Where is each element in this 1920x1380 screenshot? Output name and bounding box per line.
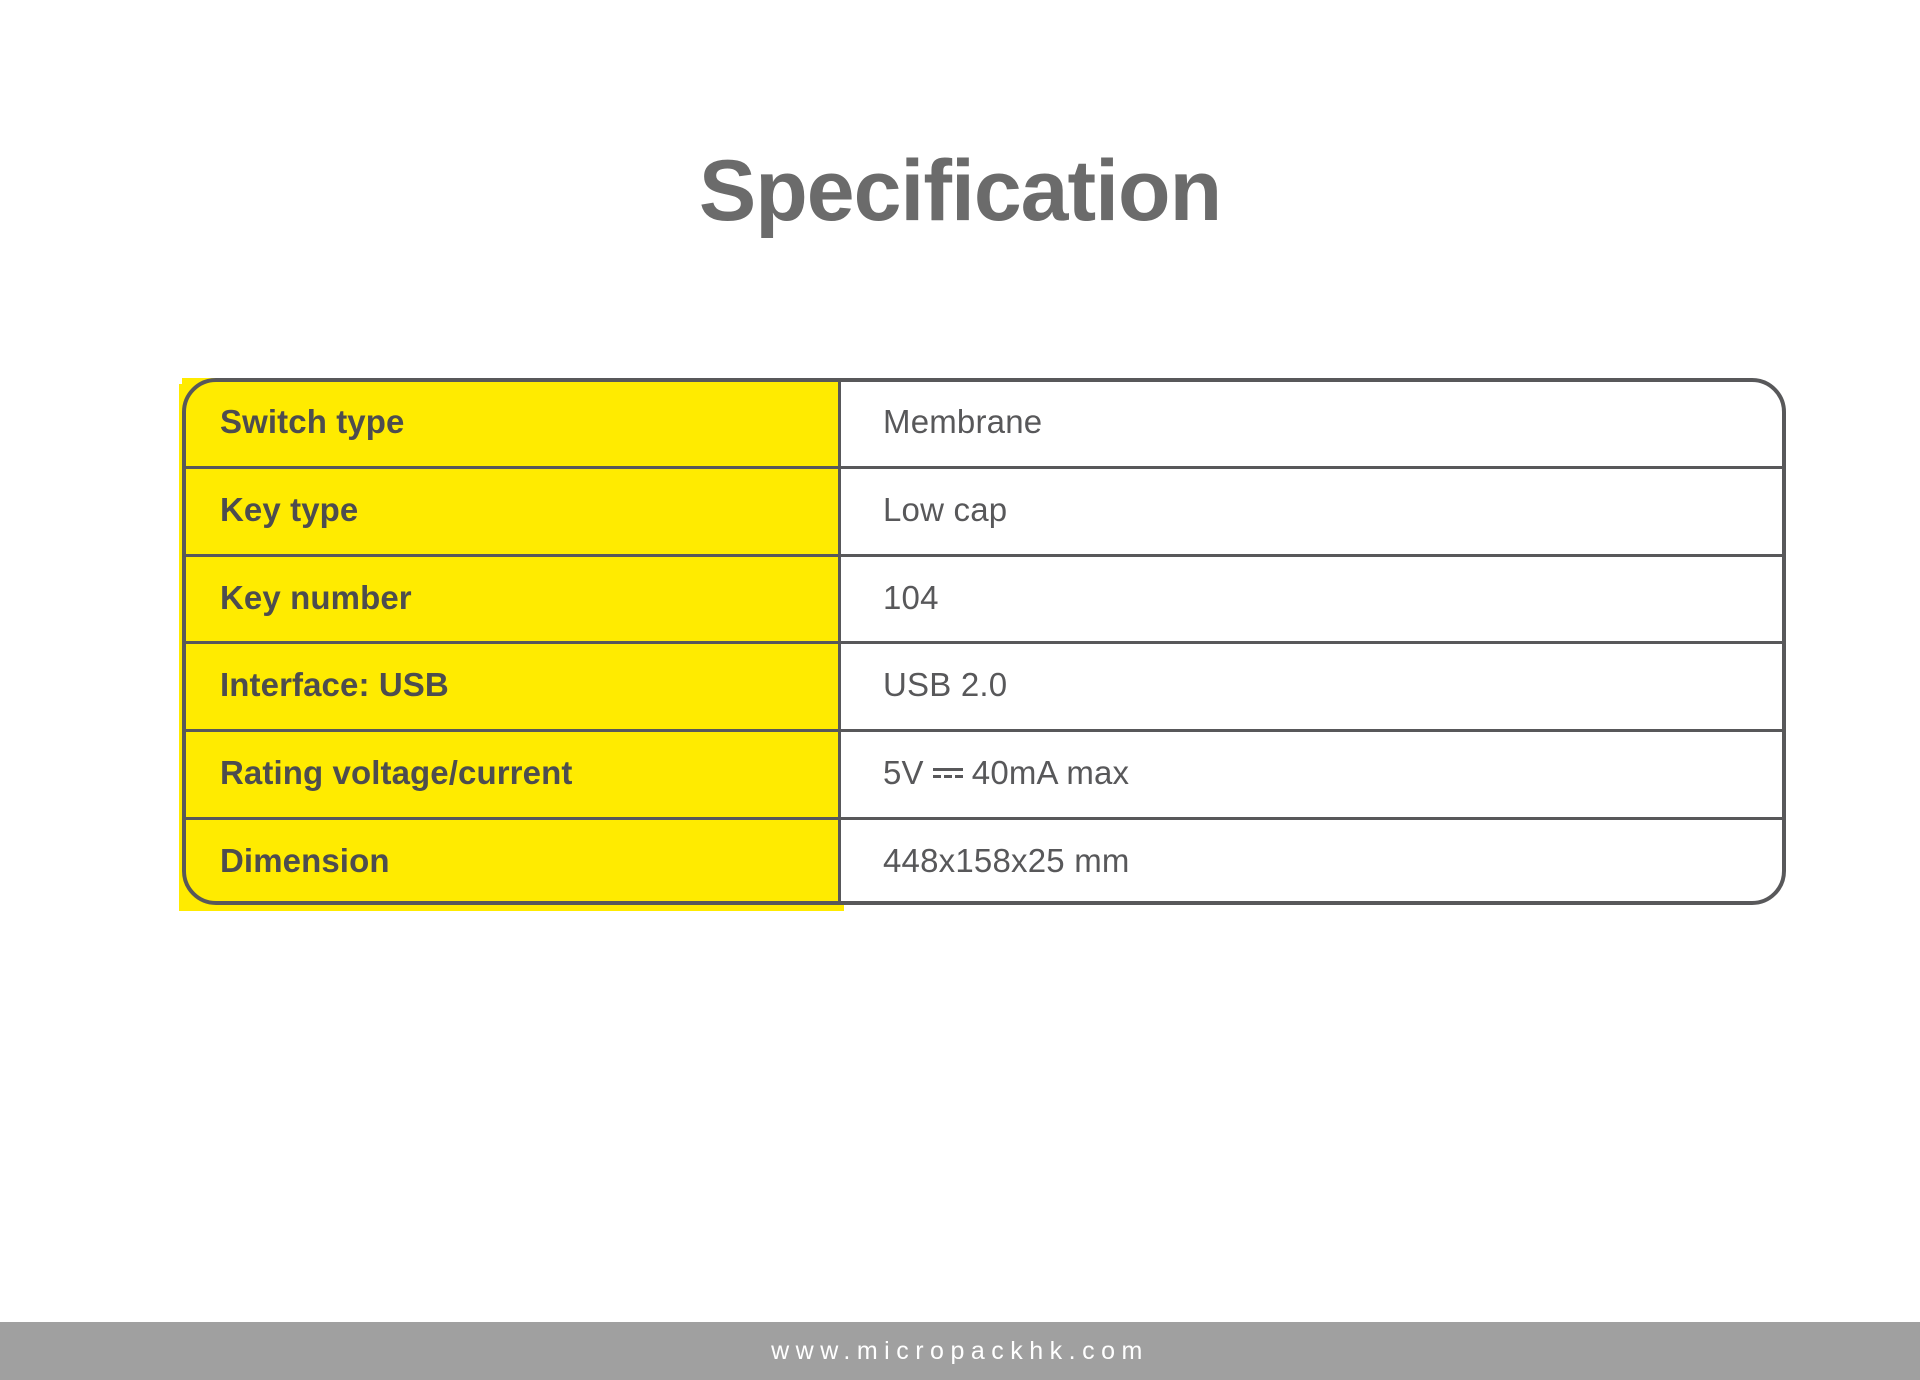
spec-value-text: Membrane [883, 403, 1042, 441]
specification-rows: Switch type Membrane Key type Low cap Ke… [182, 378, 1786, 905]
spec-value-text: 5V40mA max [883, 754, 1129, 792]
spec-label-text: Key number [220, 579, 412, 617]
spec-value-cell: 104 [841, 554, 1786, 642]
spec-label-cell: Interface: USB [182, 641, 841, 729]
spec-label-text: Key type [220, 491, 358, 529]
spec-label-text: Rating voltage/current [220, 754, 572, 792]
footer-website-url: www.micropackhk.com [771, 1337, 1149, 1366]
spec-label-text: Switch type [220, 403, 404, 441]
specification-table: Switch type Membrane Key type Low cap Ke… [182, 378, 1786, 905]
spec-value-text: Low cap [883, 491, 1007, 529]
table-row: Rating voltage/current 5V40mA max [182, 729, 1786, 817]
table-row: Interface: USB USB 2.0 [182, 641, 1786, 729]
current-value: 40mA max [972, 754, 1130, 792]
footer-bar: www.micropackhk.com [0, 1322, 1920, 1380]
voltage-value: 5V [883, 754, 924, 792]
spec-value-cell: Low cap [841, 466, 1786, 554]
dc-power-symbol-icon [933, 764, 963, 782]
spec-value-text: 448x158x25 mm [883, 842, 1130, 880]
spec-value-cell: Membrane [841, 378, 1786, 466]
spec-label-cell: Key number [182, 554, 841, 642]
spec-label-cell: Switch type [182, 378, 841, 466]
spec-value-text: USB 2.0 [883, 666, 1007, 704]
spec-value-cell: USB 2.0 [841, 641, 1786, 729]
table-row: Switch type Membrane [182, 378, 1786, 466]
table-row: Key number 104 [182, 554, 1786, 642]
page-title: Specification [0, 144, 1920, 239]
spec-value-cell: 5V40mA max [841, 729, 1786, 817]
table-row: Dimension 448x158x25 mm [182, 817, 1786, 905]
table-row: Key type Low cap [182, 466, 1786, 554]
spec-value-text: 104 [883, 579, 939, 617]
spec-label-cell: Dimension [182, 817, 841, 905]
spec-label-cell: Key type [182, 466, 841, 554]
spec-value-cell: 448x158x25 mm [841, 817, 1786, 905]
spec-label-text: Interface: USB [220, 666, 449, 704]
spec-label-cell: Rating voltage/current [182, 729, 841, 817]
spec-label-text: Dimension [220, 842, 390, 880]
